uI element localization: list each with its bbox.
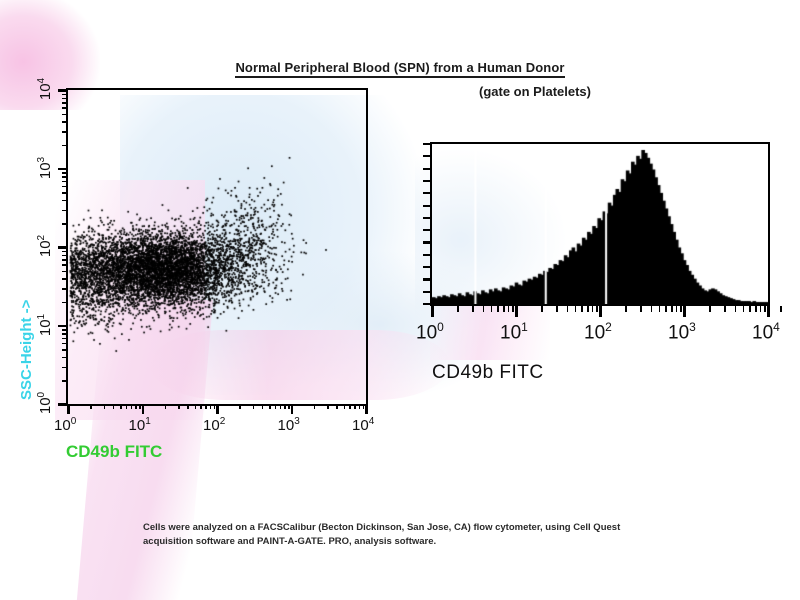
histogram-x-minor-tick	[497, 306, 499, 312]
scatter-x-minor-tick	[363, 404, 365, 409]
scatter-x-minor-tick	[336, 404, 338, 409]
scatter-x-tick-label: 100	[54, 416, 76, 434]
scatter-x-minor-tick	[120, 404, 122, 409]
scatter-x-minor-tick	[214, 404, 216, 409]
scatter-x-minor-tick	[187, 404, 189, 409]
scatter-x-minor-tick	[262, 404, 264, 409]
scatter-x-major-tick	[291, 404, 294, 414]
scatter-y-minor-tick	[62, 288, 68, 290]
caption-line-2: acquisition software and PAINT-A-GATE. P…	[143, 535, 643, 549]
scatter-y-tick-label: 104	[36, 78, 54, 100]
scatter-x-minor-tick	[284, 404, 286, 409]
scatter-x-minor-tick	[275, 404, 277, 409]
scatter-y-minor-tick	[62, 176, 68, 178]
histogram-x-minor-tick	[503, 306, 505, 312]
scatter-y-minor-tick	[62, 329, 68, 331]
histogram-x-minor-tick	[581, 306, 583, 312]
histogram-x-minor-tick	[596, 306, 598, 312]
scatter-y-tick-label: 101	[36, 313, 54, 335]
histogram-x-minor-tick	[541, 306, 543, 312]
scatter-y-minor-tick	[62, 255, 68, 257]
histogram-x-tick-label: 104	[752, 320, 780, 344]
scatter-y-minor-tick	[62, 223, 68, 225]
scatter-y-major-tick	[58, 168, 68, 171]
histogram-x-major-tick	[431, 306, 434, 317]
scatter-x-major-tick	[365, 404, 368, 414]
histogram-x-minor-tick	[508, 306, 510, 312]
scatter-y-minor-tick	[62, 349, 68, 351]
scatter-y-minor-tick	[62, 367, 68, 369]
histogram-x-minor-tick	[659, 306, 661, 312]
scatter-x-minor-tick	[135, 404, 137, 409]
histogram-x-minor-tick	[724, 306, 726, 312]
scatter-y-minor-tick	[62, 210, 68, 212]
scatter-x-minor-tick	[113, 404, 115, 409]
scatter-x-minor-tick	[126, 404, 128, 409]
scatter-y-minor-tick	[62, 259, 68, 261]
scatter-y-minor-tick	[62, 121, 68, 123]
scatter-x-major-tick	[67, 404, 70, 414]
histogram-x-minor-tick	[625, 306, 627, 312]
histogram-x-minor-tick	[491, 306, 493, 312]
scatter-y-minor-tick	[62, 186, 68, 188]
histogram-x-tick-label: 100	[416, 320, 444, 344]
histogram-x-minor-tick	[575, 306, 577, 312]
scatter-y-minor-tick	[62, 343, 68, 345]
histogram-y-tick	[423, 278, 432, 280]
histogram-x-minor-tick	[651, 306, 653, 312]
histogram-x-minor-tick	[587, 306, 589, 312]
histogram-x-minor-tick	[592, 306, 594, 312]
scatter-x-minor-tick	[210, 404, 212, 409]
scatter-x-minor-tick	[239, 404, 241, 409]
scatter-y-minor-tick	[62, 271, 68, 273]
scatter-x-minor-tick	[90, 404, 92, 409]
histogram-x-minor-tick	[676, 306, 678, 312]
histogram-y-tick	[423, 229, 432, 231]
scatter-y-minor-tick	[62, 98, 68, 100]
histogram-x-minor-tick	[749, 306, 751, 312]
scatter-y-tick-label: 100	[36, 392, 54, 414]
histogram-x-minor-tick	[680, 306, 682, 312]
scatter-y-major-tick	[58, 246, 68, 249]
scatter-y-minor-tick	[62, 333, 68, 335]
scatter-x-minor-tick	[349, 404, 351, 409]
scatter-y-minor-tick	[62, 114, 68, 116]
histogram-x-minor-tick	[743, 306, 745, 312]
histogram-x-minor-tick	[671, 306, 673, 312]
scatter-x-minor-tick	[104, 404, 106, 409]
scatter-y-minor-tick	[62, 278, 68, 280]
histogram-x-axis-title-text: CD49b FITC	[432, 362, 544, 383]
scatter-x-minor-tick	[205, 404, 207, 409]
histogram-x-minor-tick	[483, 306, 485, 312]
scatter-y-major-tick	[58, 89, 68, 92]
scatter-x-minor-tick	[195, 404, 197, 409]
scatter-x-tick-label: 103	[278, 416, 300, 434]
scatter-y-minor-tick	[62, 380, 68, 382]
scatter-x-minor-tick	[327, 404, 329, 409]
histogram-x-minor-tick	[567, 306, 569, 312]
caption-line-1: Cells were analyzed on a FACSCalibur (Be…	[143, 521, 643, 535]
histogram-x-tick-label: 101	[500, 320, 528, 344]
scatter-y-minor-tick	[62, 181, 68, 183]
scatter-x-minor-tick	[269, 404, 271, 409]
scatter-x-minor-tick	[280, 404, 282, 409]
histogram-canvas	[432, 144, 768, 304]
histogram-x-minor-tick	[665, 306, 667, 312]
histogram-x-minor-tick	[457, 306, 459, 312]
histogram-x-major-tick	[599, 306, 602, 317]
scatter-x-minor-tick	[131, 404, 133, 409]
figure-subtitle: (gate on Platelets)	[410, 84, 660, 99]
scatter-x-minor-tick	[253, 404, 255, 409]
scatter-y-minor-tick	[62, 107, 68, 109]
histogram-y-tick	[423, 180, 432, 182]
histogram-x-minor-tick	[764, 306, 766, 312]
scatter-y-minor-tick	[62, 251, 68, 253]
scatter-x-minor-tick	[178, 404, 180, 409]
scatter-x-minor-tick	[314, 404, 316, 409]
histogram-y-tick	[423, 241, 432, 243]
scatter-x-tick-label: 101	[129, 416, 151, 434]
histogram-y-tick	[423, 217, 432, 219]
histogram-y-tick	[423, 266, 432, 268]
scatter-x-minor-tick	[344, 404, 346, 409]
figure-title-text: Normal Peripheral Blood (SPN) from a Hum…	[235, 60, 564, 78]
scatter-y-minor-tick	[62, 302, 68, 304]
histogram-y-tick	[423, 254, 432, 256]
scatter-y-minor-tick	[62, 357, 68, 359]
histogram-x-major-tick	[767, 306, 770, 317]
scatter-x-minor-tick	[288, 404, 290, 409]
scatter-x-minor-tick	[354, 404, 356, 409]
histogram-x-major-tick	[515, 306, 518, 317]
histogram-y-tick	[423, 303, 432, 305]
histogram-x-axis-title: CD49b FITC	[432, 362, 544, 384]
scatter-y-minor-tick	[62, 200, 68, 202]
histogram-x-minor-tick	[472, 306, 474, 312]
scatter-y-minor-tick	[62, 102, 68, 104]
scatter-x-minor-tick	[200, 404, 202, 409]
histogram-x-minor-tick	[760, 306, 762, 312]
scatter-x-major-tick	[216, 404, 219, 414]
scatter-y-tick-label: 102	[36, 235, 54, 257]
scatter-x-minor-tick	[165, 404, 167, 409]
scatter-y-minor-tick	[62, 131, 68, 133]
flow-cytometry-figure: Normal Peripheral Blood (SPN) from a Hum…	[0, 0, 800, 600]
histogram-x-minor-tick	[512, 306, 514, 312]
scatter-y-minor-tick	[62, 264, 68, 266]
scatter-x-minor-tick	[359, 404, 361, 409]
scatter-y-minor-tick	[62, 94, 68, 96]
figure-title: Normal Peripheral Blood (SPN) from a Hum…	[0, 60, 800, 75]
histogram-y-tick	[423, 291, 432, 293]
scatter-plot-canvas	[68, 90, 366, 404]
histogram-x-minor-tick	[640, 306, 642, 312]
histogram-x-major-tick	[683, 306, 686, 317]
histogram-x-tick-label: 102	[584, 320, 612, 344]
scatter-x-major-tick	[142, 404, 145, 414]
scatter-y-minor-tick	[62, 145, 68, 147]
scatter-y-minor-tick	[62, 172, 68, 174]
histogram-x-minor-tick	[709, 306, 711, 312]
scatter-y-major-tick	[58, 403, 68, 406]
histogram-x-minor-tick	[556, 306, 558, 312]
histogram-y-tick	[423, 192, 432, 194]
scatter-y-minor-tick	[62, 192, 68, 194]
histogram-y-tick	[423, 168, 432, 170]
histogram-x-edge-tick	[780, 306, 782, 312]
scatter-y-major-tick	[58, 325, 68, 328]
histogram-y-tick	[423, 155, 432, 157]
scatter-x-minor-tick	[139, 404, 141, 409]
scatter-x-axis-title: CD49b FITC	[66, 442, 162, 462]
histogram-x-tick-label: 103	[668, 320, 696, 344]
figure-caption: Cells were analyzed on a FACSCalibur (Be…	[143, 521, 643, 549]
scatter-y-minor-tick	[62, 338, 68, 340]
histogram-x-minor-tick	[755, 306, 757, 312]
scatter-x-tick-label: 102	[203, 416, 225, 434]
histogram-y-tick	[423, 205, 432, 207]
scatter-y-tick-label: 103	[36, 156, 54, 178]
histogram-y-tick	[423, 143, 432, 145]
histogram-x-minor-tick	[735, 306, 737, 312]
scatter-x-tick-label: 104	[352, 416, 374, 434]
scatter-y-axis-title: SSC-Height ->	[18, 300, 35, 400]
